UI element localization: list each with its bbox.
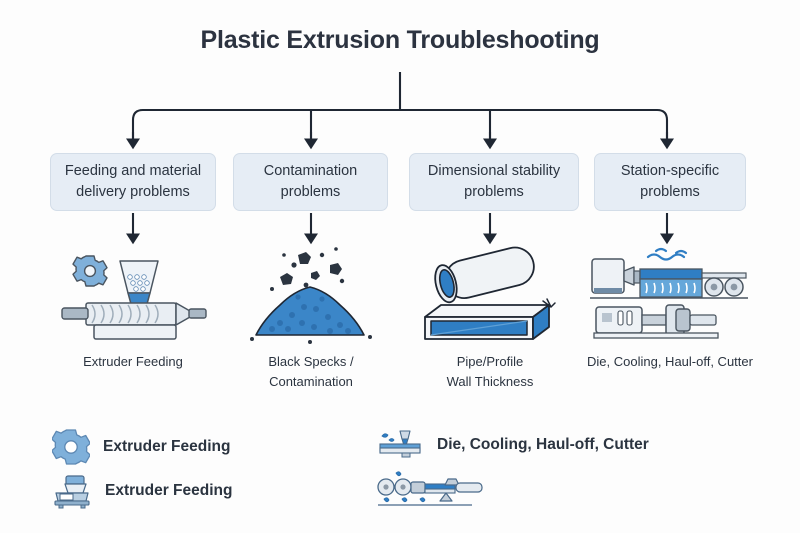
pellet-pile-specks-icon — [236, 243, 386, 345]
category-label-line2: problems — [621, 182, 719, 203]
caption-pipe-profile: Pipe/Profile Wall Thickness — [410, 352, 570, 392]
illustration-extruder-feeding — [58, 243, 208, 345]
legend-item-die[interactable]: Die, Cooling, Haul-off, Cutter — [376, 428, 649, 462]
diagram-canvas: Plastic Extrusion Troubleshooting Feedin… — [0, 0, 800, 533]
page-title: Plastic Extrusion Troubleshooting — [0, 26, 800, 55]
legend-item-hopper[interactable]: Extruder Feeding — [52, 473, 232, 509]
caption-line1: Black Specks / — [231, 352, 391, 372]
category-label-line2: problems — [428, 182, 560, 203]
illustration-black-specks — [236, 243, 386, 345]
legend-item-haul-off[interactable] — [376, 471, 512, 515]
illustration-pipe-profile — [415, 243, 565, 345]
category-label-line1: Contamination — [264, 161, 358, 182]
caption-extruder-feeding: Extruder Feeding — [53, 352, 213, 372]
category-label-line1: Dimensional stability — [428, 161, 560, 182]
category-label-line2: delivery problems — [65, 182, 201, 203]
extruder-screw-hopper-icon — [58, 243, 208, 345]
gear-icon — [52, 428, 90, 466]
category-label-line1: Station-specific — [621, 161, 719, 182]
category-box-dimensional[interactable]: Dimensional stability problems — [409, 153, 579, 211]
category-label-line1: Feeding and material — [65, 161, 201, 182]
category-box-feeding[interactable]: Feeding and material delivery problems — [50, 153, 216, 211]
caption-black-specks: Black Specks / Contamination — [231, 352, 391, 392]
caption-die-cooling: Die, Cooling, Haul-off, Cutter — [575, 352, 765, 372]
caption-line2: Wall Thickness — [410, 372, 570, 392]
illustration-die-cooling — [588, 243, 748, 345]
hopper-machine-icon — [52, 473, 92, 509]
category-label-line2: problems — [264, 182, 358, 203]
category-box-station[interactable]: Station-specific problems — [594, 153, 746, 211]
legend-label: Die, Cooling, Haul-off, Cutter — [437, 436, 649, 454]
caption-line2: Contamination — [231, 372, 391, 392]
pipe-and-profile-icon — [415, 243, 565, 345]
category-box-contamination[interactable]: Contamination problems — [233, 153, 388, 211]
die-cooling-icon — [376, 428, 424, 462]
legend-item-gear[interactable]: Extruder Feeding — [52, 428, 230, 466]
caption-line1: Pipe/Profile — [410, 352, 570, 372]
caption-line1: Die, Cooling, Haul-off, Cutter — [575, 352, 765, 372]
legend-label: Extruder Feeding — [103, 438, 230, 456]
caption-line1: Extruder Feeding — [53, 352, 213, 372]
legend-label: Extruder Feeding — [105, 482, 232, 500]
die-cooling-line-icon — [588, 243, 748, 345]
haul-off-cutter-icon — [376, 471, 486, 515]
